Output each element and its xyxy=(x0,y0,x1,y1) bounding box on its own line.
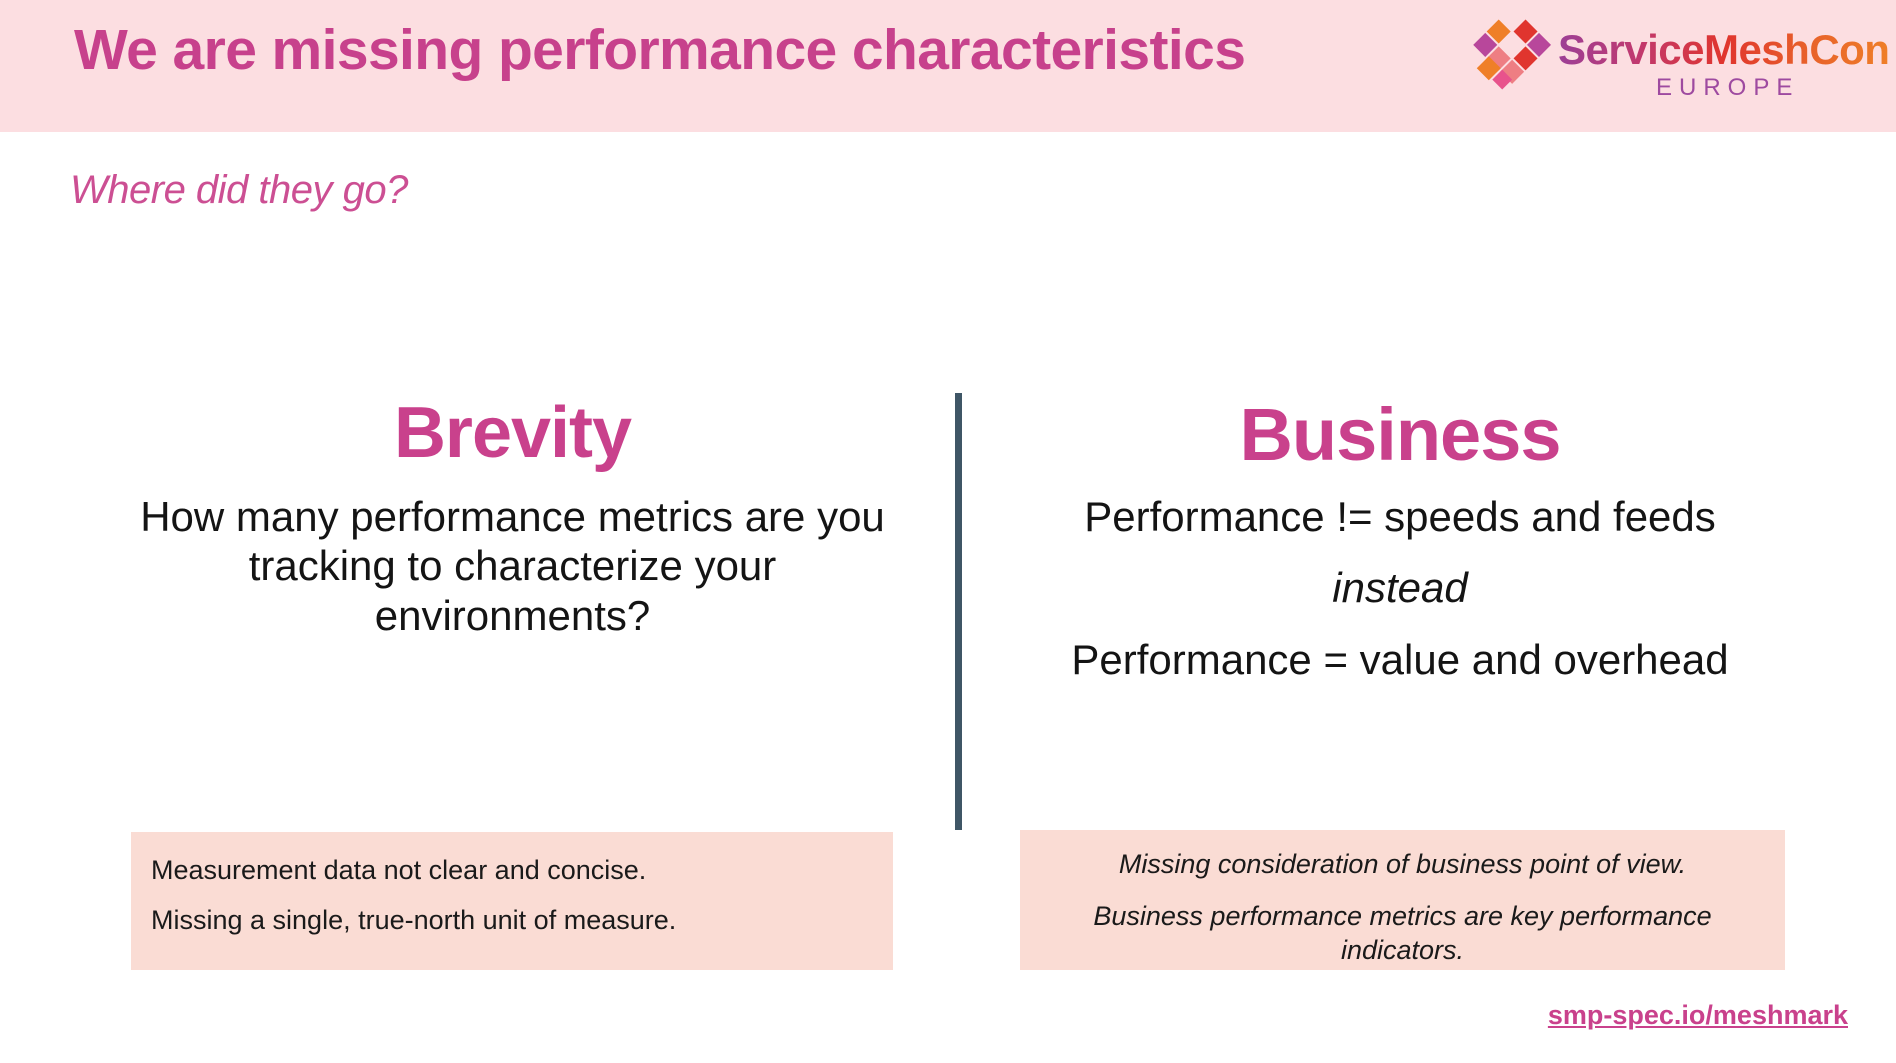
column-heading-business: Business xyxy=(1000,396,1800,474)
callout-line: Measurement data not clear and concise. xyxy=(151,854,873,888)
logo-wordmark: ServiceMeshCon xyxy=(1558,26,1889,74)
column-brevity: Brevity How many performance metrics are… xyxy=(110,396,915,640)
callout-line: Missing consideration of business point … xyxy=(1044,848,1761,882)
servicemeshcon-diamond-mark-icon xyxy=(1468,10,1552,94)
column-heading-brevity: Brevity xyxy=(110,396,915,472)
slide-canvas: We are missing performance characteristi… xyxy=(0,0,1896,1063)
servicemeshcon-logo: ServiceMeshCon EUROPE xyxy=(1468,8,1880,120)
slide-subtitle: Where did they go? xyxy=(70,168,408,213)
callout-line: Business performance metrics are key per… xyxy=(1044,900,1761,968)
callout-box-brevity: Measurement data not clear and concise.M… xyxy=(131,832,893,970)
callout-box-business: Missing consideration of business point … xyxy=(1020,830,1785,970)
page-title: We are missing performance characteristi… xyxy=(74,22,1434,79)
column-business: Business Performance != speeds and feeds… xyxy=(1000,396,1800,684)
callout-line: Missing a single, true-north unit of mea… xyxy=(151,904,873,938)
column-body-brevity: How many performance metrics are you tra… xyxy=(110,492,915,641)
column-body-line: How many performance metrics are you tra… xyxy=(110,492,915,641)
column-body-line: Performance != speeds and feeds xyxy=(1000,492,1800,542)
column-body-business: Performance != speeds and feedsinsteadPe… xyxy=(1000,492,1800,685)
footer-link[interactable]: smp-spec.io/meshmark xyxy=(1548,1000,1848,1031)
logo-region-label: EUROPE xyxy=(1656,74,1799,102)
column-body-line: Performance = value and overhead xyxy=(1000,635,1800,685)
column-body-line: instead xyxy=(1000,563,1800,613)
column-divider xyxy=(955,393,962,830)
